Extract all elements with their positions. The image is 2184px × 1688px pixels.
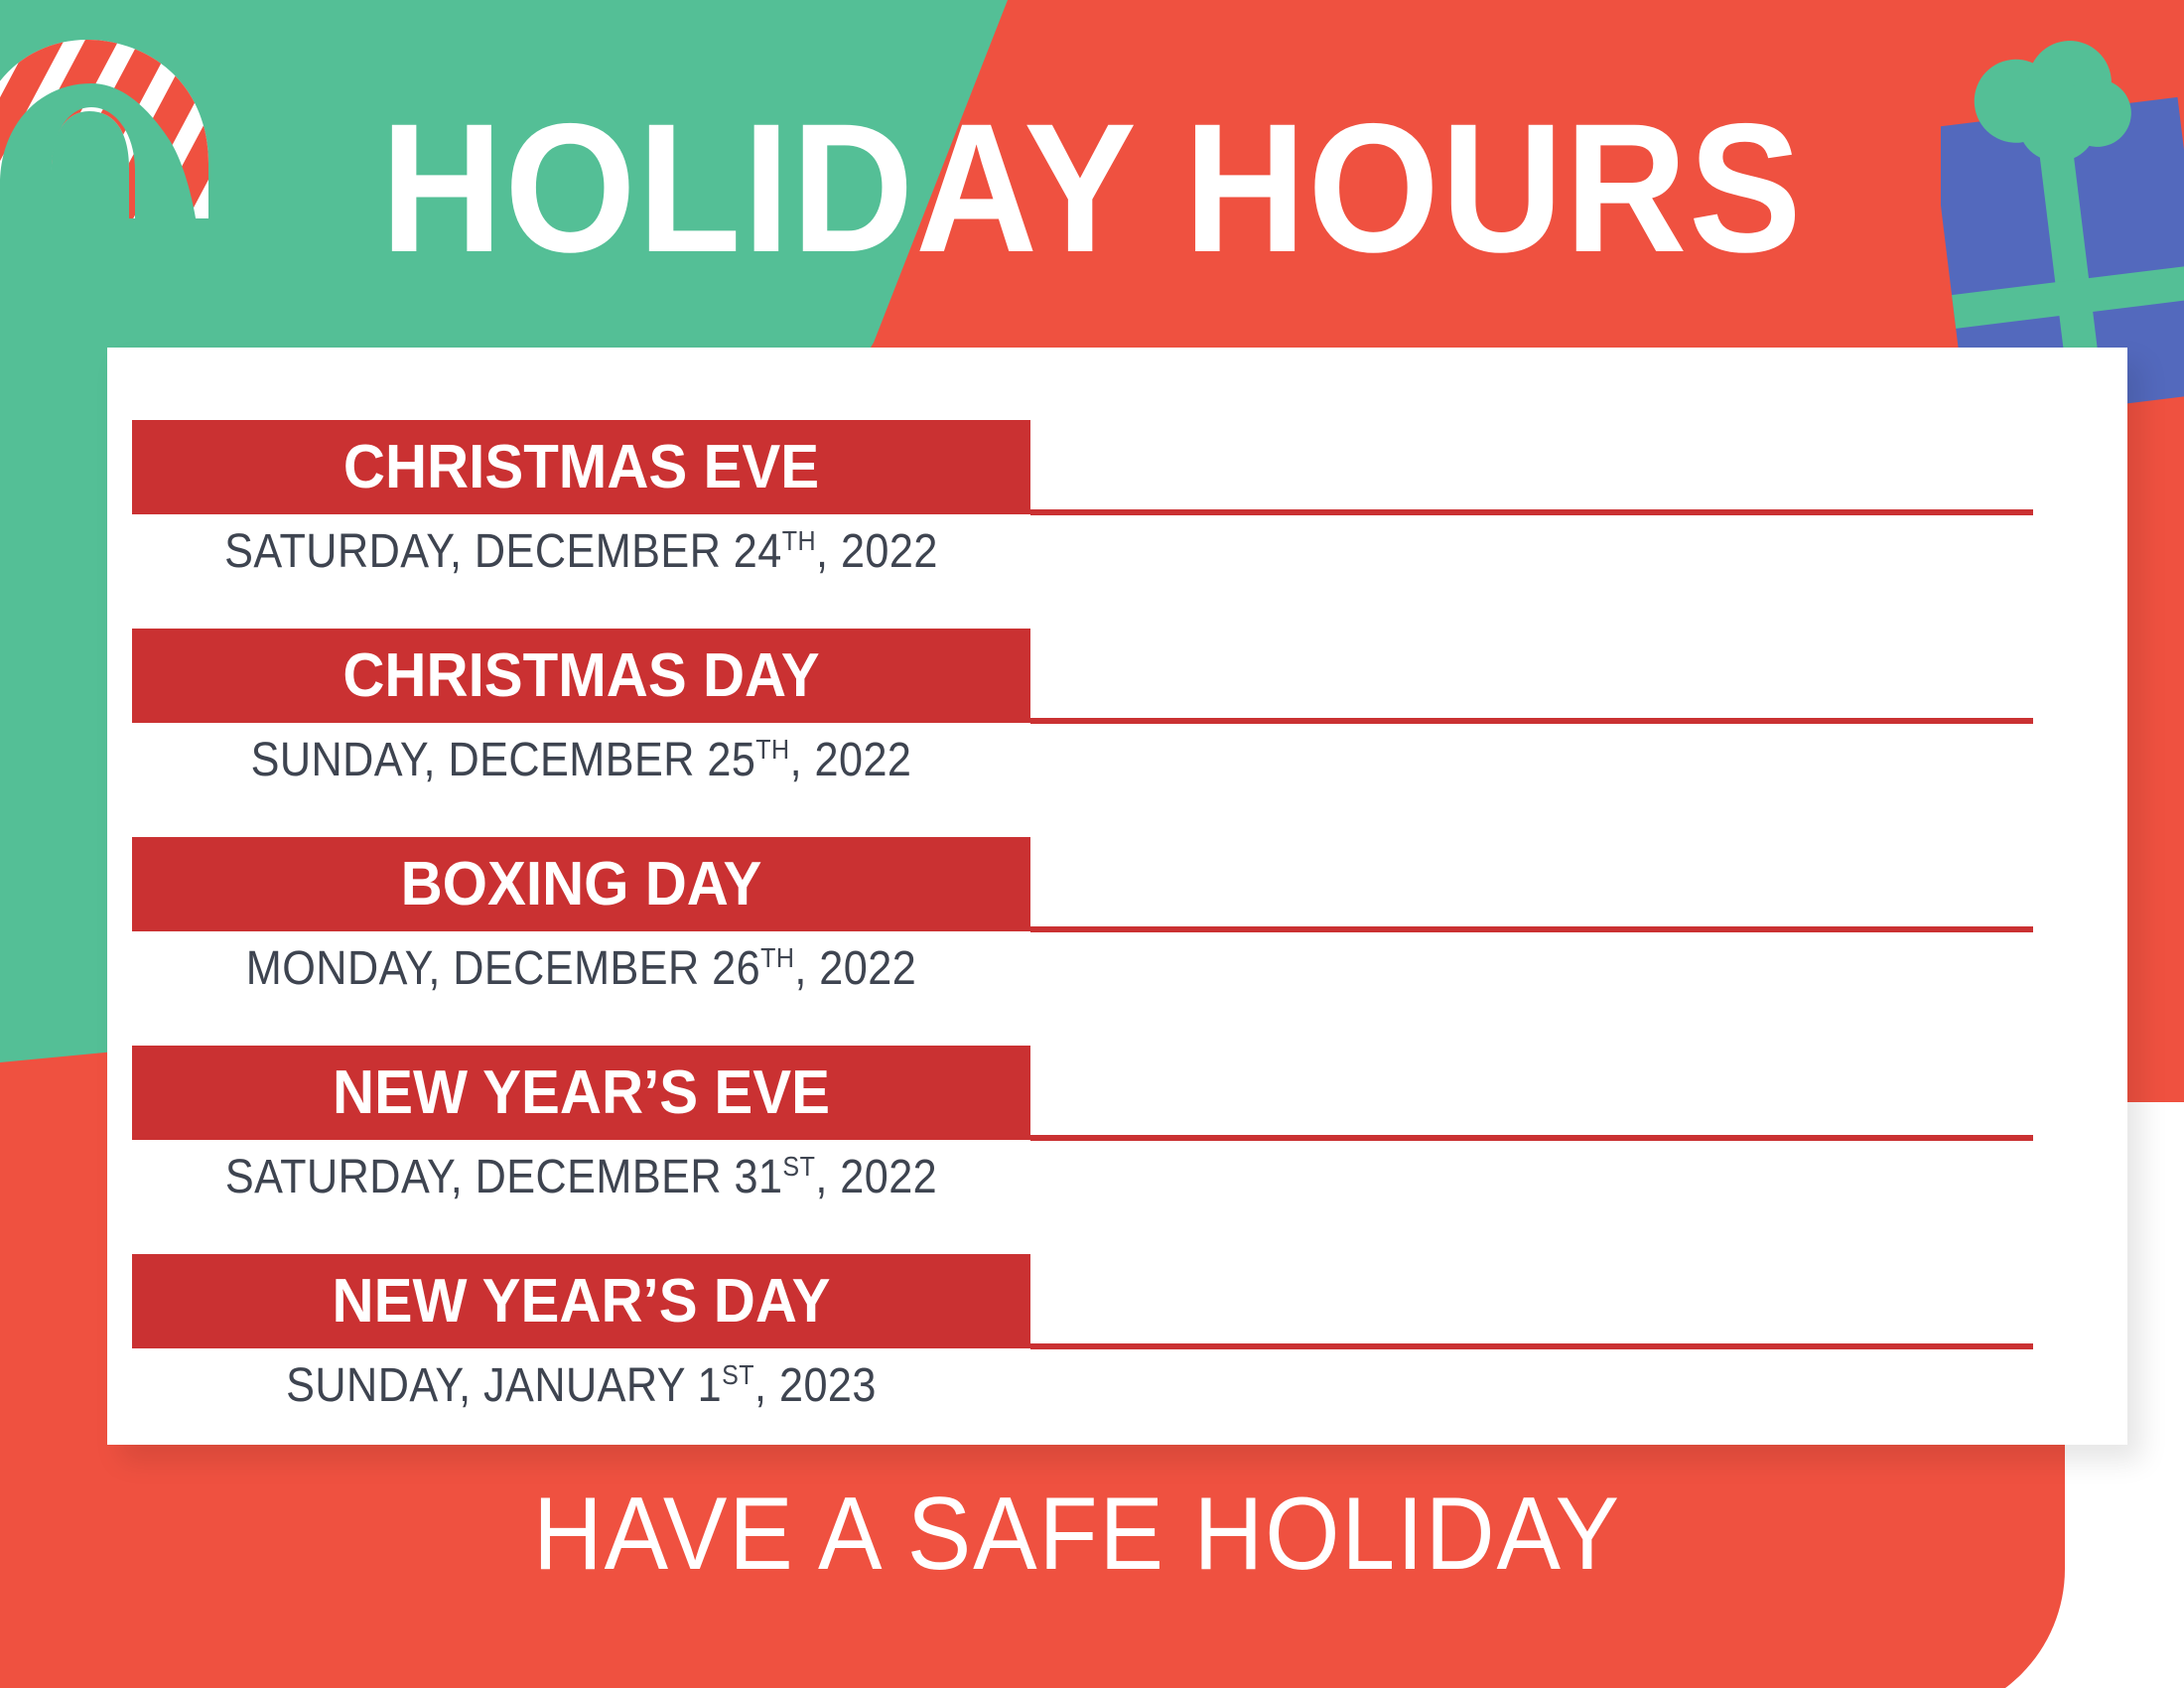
hours-write-in-rule (1030, 509, 2033, 515)
holiday-date-prefix: SATURDAY, DECEMBER 31 (225, 1151, 783, 1203)
holiday-banner: NEW YEAR’S EVE (132, 1046, 1030, 1140)
holiday-name: BOXING DAY (159, 837, 1004, 931)
hours-write-in-rule (1030, 718, 2033, 724)
page-title: HOLIDAY HOURS (87, 94, 2097, 283)
holiday-name: NEW YEAR’S EVE (159, 1046, 1004, 1140)
holiday-hours-poster: HOLIDAY HOURS CHRISTMAS EVE SATURDAY, DE… (0, 0, 2184, 1688)
holiday-date-tail: , 2022 (816, 525, 938, 578)
holiday-date-prefix: SUNDAY, DECEMBER 25 (251, 734, 756, 786)
holiday-date-tail: , 2023 (754, 1359, 877, 1412)
holiday-date: SATURDAY, DECEMBER 31ST, 2022 (177, 1145, 986, 1210)
holiday-date-prefix: SUNDAY, JANUARY 1 (286, 1359, 722, 1412)
holiday-date-tail: , 2022 (790, 734, 912, 786)
holiday-date-ordinal: TH (760, 942, 794, 973)
holiday-date: SUNDAY, JANUARY 1ST, 2023 (177, 1353, 986, 1419)
holiday-name: NEW YEAR’S DAY (159, 1254, 1004, 1348)
holiday-banner: CHRISTMAS EVE (132, 420, 1030, 514)
holiday-date: MONDAY, DECEMBER 26TH, 2022 (177, 936, 986, 1002)
hours-write-in-rule (1030, 926, 2033, 932)
hours-rows: CHRISTMAS EVE SATURDAY, DECEMBER 24TH, 2… (107, 348, 2127, 1445)
holiday-date-ordinal: ST (782, 1151, 815, 1182)
holiday-banner: CHRISTMAS DAY (132, 629, 1030, 723)
hours-write-in-rule (1030, 1135, 2033, 1141)
hours-card: CHRISTMAS EVE SATURDAY, DECEMBER 24TH, 2… (107, 348, 2127, 1445)
holiday-banner: NEW YEAR’S DAY (132, 1254, 1030, 1348)
holiday-date: SUNDAY, DECEMBER 25TH, 2022 (177, 728, 986, 793)
hours-write-in-rule (1030, 1343, 2033, 1349)
holiday-date-ordinal: TH (755, 734, 789, 765)
holiday-date: SATURDAY, DECEMBER 24TH, 2022 (177, 519, 986, 585)
holiday-banner: BOXING DAY (132, 837, 1030, 931)
holiday-date-tail: , 2022 (815, 1151, 937, 1203)
holiday-date-prefix: MONDAY, DECEMBER 26 (246, 942, 760, 995)
holiday-date-ordinal: ST (722, 1359, 754, 1390)
holiday-name: CHRISTMAS DAY (159, 629, 1004, 723)
footer-message: HAVE A SAFE HOLIDAY (159, 1479, 1996, 1589)
holiday-date-prefix: SATURDAY, DECEMBER 24 (224, 525, 782, 578)
holiday-name: CHRISTMAS EVE (159, 420, 1004, 514)
holiday-date-ordinal: TH (782, 525, 816, 556)
holiday-date-tail: , 2022 (794, 942, 916, 995)
